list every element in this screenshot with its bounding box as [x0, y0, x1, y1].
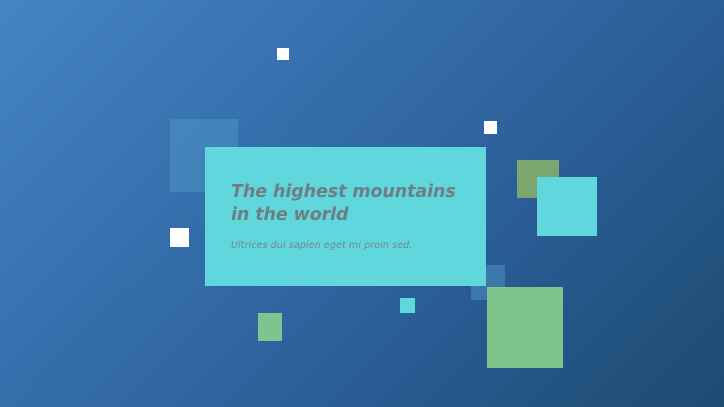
square-green-large-bottom: [487, 287, 563, 368]
presentation-slide: The highest mountains in the world Ultri…: [0, 0, 724, 407]
square-green-small-bottom: [258, 313, 282, 341]
square-cyan-right: [537, 177, 597, 236]
square-white-right: [484, 121, 497, 134]
title-card: The highest mountains in the world Ultri…: [205, 147, 486, 286]
square-white-left: [170, 228, 189, 247]
slide-subtitle: Ultrices dui sapien eget mi proin sed.: [231, 240, 460, 251]
square-cyan-small-bottom: [400, 298, 415, 313]
slide-title: The highest mountains in the world: [231, 181, 460, 227]
square-white-top: [277, 48, 289, 60]
